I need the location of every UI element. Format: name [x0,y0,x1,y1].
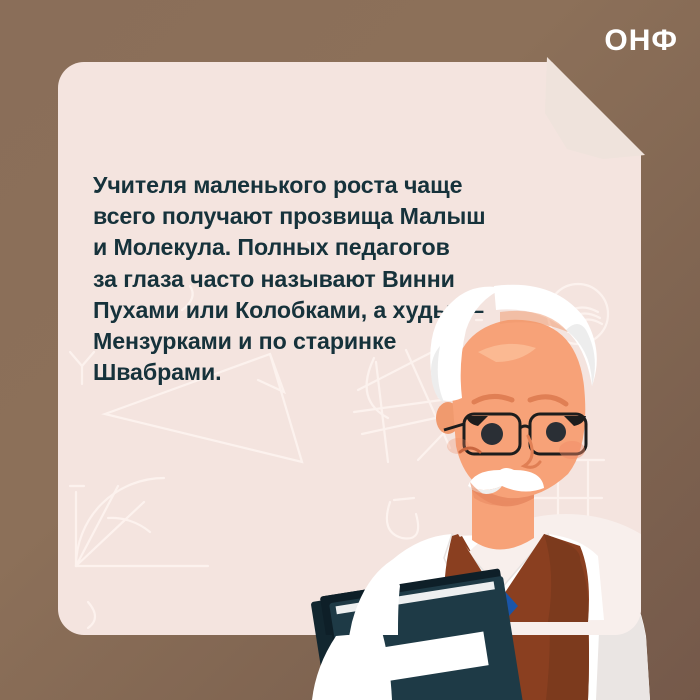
poster-canvas: ОНФ [0,0,700,700]
onf-logo: ОНФ [604,26,678,56]
quote-card: Учителя маленького роста чаще всего полу… [58,62,641,635]
page-title: Учителя маленького роста чаще всего полу… [93,170,563,388]
